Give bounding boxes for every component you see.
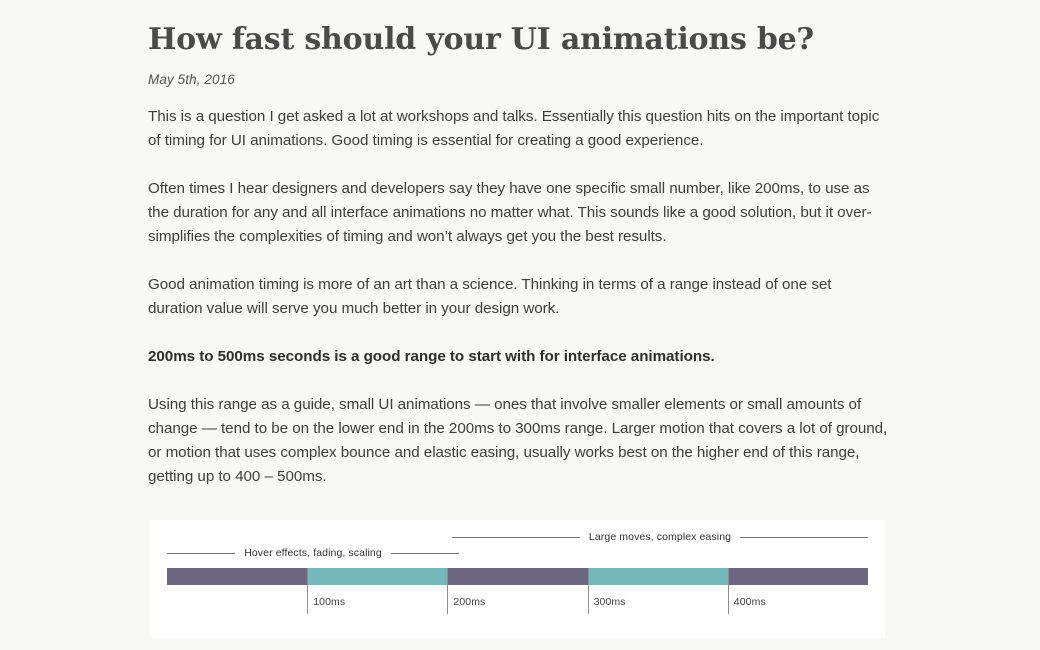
timeline-bar	[167, 568, 868, 585]
annotation-label: Hover effects, fading, scaling	[244, 547, 382, 559]
timeline-tick-label: 200ms	[453, 596, 485, 608]
annotation-large-moves: Large moves, complex easing	[452, 530, 868, 544]
paragraph-4: Using this range as a guide, small UI an…	[148, 393, 888, 489]
timeline-tick	[588, 568, 589, 614]
timeline-tick	[447, 568, 448, 614]
annotation-rule-right	[391, 553, 459, 554]
annotation-hover-effects: Hover effects, fading, scaling	[167, 546, 459, 560]
paragraph-2: Often times I hear designers and develop…	[148, 177, 888, 249]
annotation-label: Large moves, complex easing	[589, 531, 731, 543]
annotation-rule-left	[167, 553, 235, 554]
timeline-tick-label: 400ms	[734, 596, 766, 608]
timeline-tick-label: 100ms	[313, 596, 345, 608]
post-date: May 5th, 2016	[148, 72, 888, 87]
timeline-segment	[447, 568, 587, 585]
timeline-tick	[728, 568, 729, 614]
paragraph-1: This is a question I get asked a lot at …	[148, 105, 888, 153]
annotation-rule-left	[452, 537, 580, 538]
timeline-segment	[307, 568, 447, 585]
article-body: This is a question I get asked a lot at …	[148, 105, 888, 489]
annotation-rule-right	[740, 537, 868, 538]
key-statement: 200ms to 500ms seconds is a good range t…	[148, 345, 888, 369]
timeline-tick-label: 300ms	[594, 596, 626, 608]
timeline-segment	[728, 568, 868, 585]
timeline-segment	[588, 568, 728, 585]
article-container: How fast should your UI animations be? M…	[148, 22, 888, 513]
timing-diagram-card: Large moves, complex easing Hover effect…	[150, 520, 885, 638]
timeline-segment	[167, 568, 307, 585]
timing-diagram: Large moves, complex easing Hover effect…	[150, 520, 885, 638]
page-title: How fast should your UI animations be?	[148, 22, 888, 58]
paragraph-3: Good animation timing is more of an art …	[148, 273, 888, 321]
article-page: How fast should your UI animations be? M…	[0, 0, 1040, 650]
timeline-tick	[307, 568, 308, 614]
